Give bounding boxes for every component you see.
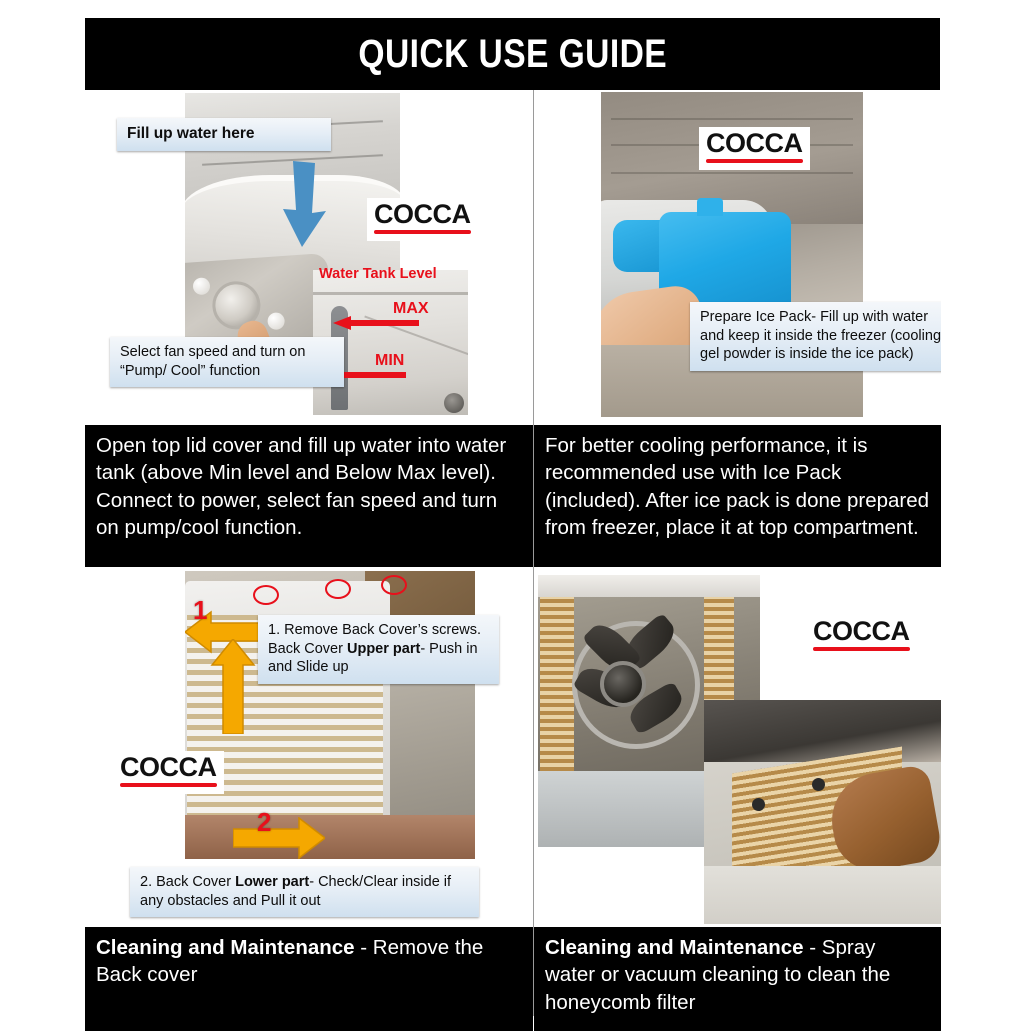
screw-marker-3-icon — [381, 575, 407, 595]
cell-1-caption-text: Open top lid cover and fill up water int… — [96, 434, 506, 539]
step-2-text-bold: Lower part — [235, 874, 309, 890]
ice-pack-callout: Prepare Ice Pack- Fill up with water and… — [690, 302, 941, 371]
brand-logo-text: COCCA — [706, 130, 803, 157]
brand-logo-text: COCCA — [120, 754, 217, 781]
step-2-text-a: 2. Back Cover — [140, 874, 235, 890]
screw-marker-2-icon — [325, 579, 351, 599]
cell-4-caption-bold: Cleaning and Maintenance — [545, 936, 804, 959]
brand-logo: COCCA — [806, 615, 917, 658]
guide-grid: Water Tank Level MAX MIN Fill up water h… — [85, 90, 940, 1016]
cell-3-caption: Cleaning and Maintenance - Remove the Ba… — [85, 927, 533, 1031]
step-1-text-bold: Upper part — [347, 641, 420, 657]
cell-2-caption: For better cooling performance, it is re… — [534, 425, 941, 567]
page-title: QUICK USE GUIDE — [358, 32, 667, 77]
fan-hub — [600, 661, 646, 707]
honeycomb-filter-photo — [704, 700, 941, 924]
step-1-number: 1 — [193, 595, 207, 626]
fill-direction-arrow-icon — [281, 161, 327, 247]
right-column: COCCA Prepare Ice Pack- Fill up with wat… — [533, 90, 941, 1016]
pad-bolt-2 — [812, 778, 825, 791]
brand-logo: COCCA — [113, 751, 224, 794]
cooler-top-edge — [538, 575, 760, 597]
left-column: Water Tank Level MAX MIN Fill up water h… — [85, 90, 533, 1016]
cell-4-image: COCCA — [534, 567, 941, 927]
brand-logo-text: COCCA — [813, 618, 910, 645]
brand-logo: COCCA — [367, 198, 478, 241]
page-header: QUICK USE GUIDE — [85, 18, 940, 90]
brand-logo-swoosh-icon — [374, 230, 471, 234]
quick-use-guide-page: QUICK USE GUIDE — [0, 0, 1024, 1024]
slide-up-arrow-icon — [210, 639, 256, 734]
honeycomb-filter-left — [540, 597, 574, 787]
tank-seam — [313, 292, 468, 295]
cell-2-caption-text: For better cooling performance, it is re… — [545, 434, 929, 539]
cell-3-caption-bold: Cleaning and Maintenance — [96, 936, 355, 959]
step-1-callout: 1. Remove Back Cover’s screws. Back Cove… — [258, 615, 499, 684]
control-button-a — [192, 277, 210, 295]
brand-logo-swoosh-icon — [120, 783, 217, 787]
cell-1-image: Water Tank Level MAX MIN Fill up water h… — [85, 90, 533, 425]
fill-up-water-callout: Fill up water here — [117, 118, 331, 151]
caster-wheel — [444, 393, 464, 413]
cell-2-image: COCCA Prepare Ice Pack- Fill up with wat… — [534, 90, 941, 425]
screw-marker-1-icon — [253, 585, 279, 605]
cell-4-caption: Cleaning and Maintenance - Spray water o… — [534, 927, 941, 1031]
step-2-number: 2 — [257, 807, 271, 838]
wood-floor — [185, 815, 475, 859]
background-scene — [704, 700, 941, 762]
brand-logo-swoosh-icon — [813, 647, 910, 651]
fan-speed-callout: Select fan speed and turn on “Pump/ Cool… — [110, 337, 344, 387]
pad-bolt-1 — [752, 798, 765, 811]
pull-out-arrow-icon — [233, 817, 325, 859]
cell-3-image: 1 2 1. Remove Back Cover’s screws. Back … — [85, 567, 533, 927]
brand-logo-swoosh-icon — [706, 159, 803, 163]
step-2-callout: 2. Back Cover Lower part- Check/Clear in… — [130, 867, 479, 917]
brand-logo-text: COCCA — [374, 201, 471, 228]
tile-floor — [704, 866, 941, 924]
cell-1-caption: Open top lid cover and fill up water int… — [85, 425, 533, 567]
water-tank-level-label: Water Tank Level — [319, 266, 437, 282]
max-level-arrow-icon — [333, 316, 419, 330]
brand-logo: COCCA — [699, 127, 810, 170]
control-button-b — [267, 312, 285, 330]
